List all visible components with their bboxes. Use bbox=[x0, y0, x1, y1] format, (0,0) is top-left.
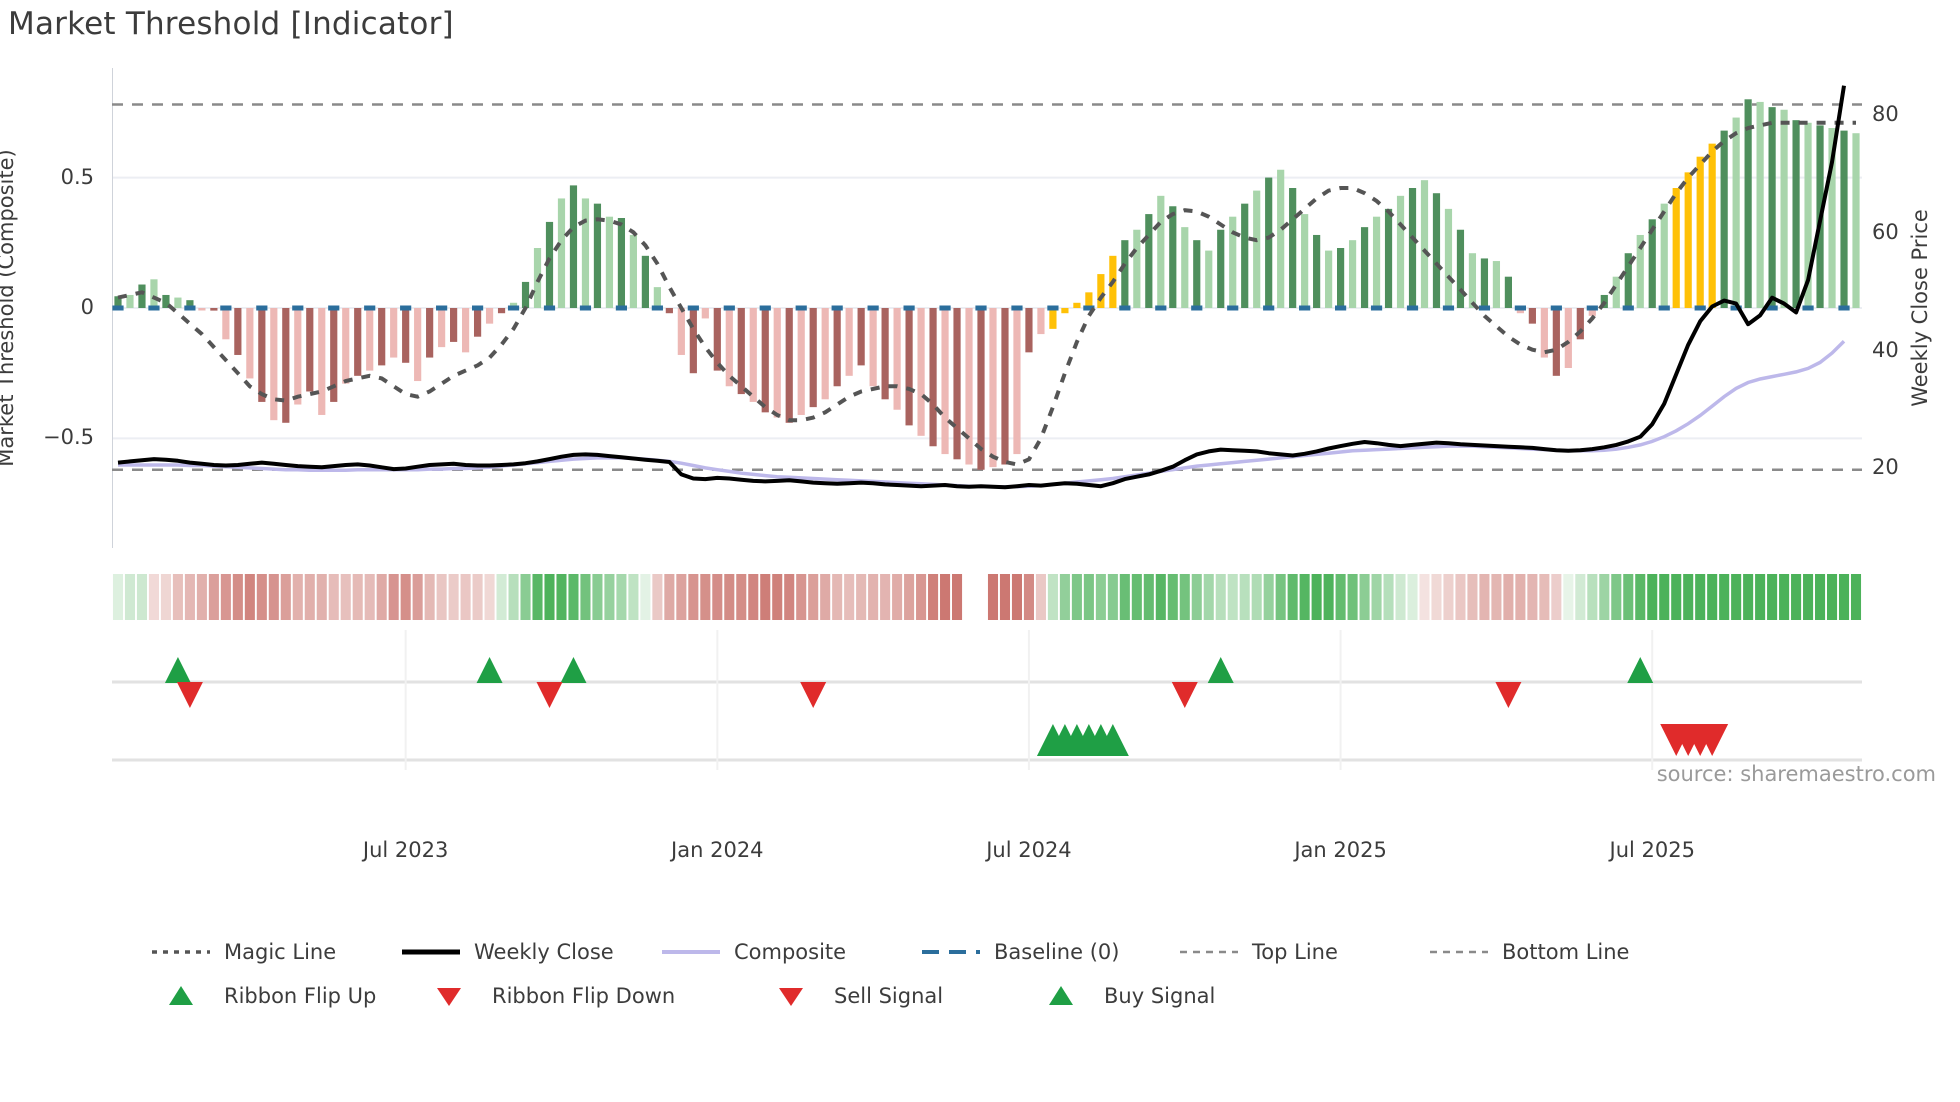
indicator-bar bbox=[522, 282, 529, 308]
ribbon-cell bbox=[868, 574, 878, 620]
ribbon-cell bbox=[640, 574, 650, 620]
ribbon-cell bbox=[1791, 574, 1801, 620]
ribbon-cell bbox=[1695, 574, 1705, 620]
dashed-line-icon bbox=[1178, 939, 1240, 965]
indicator-bar bbox=[1433, 193, 1440, 308]
indicator-bar bbox=[1661, 204, 1668, 308]
indicator-bar bbox=[1049, 308, 1056, 329]
ribbon-cell bbox=[700, 574, 710, 620]
solid-line-icon bbox=[400, 939, 462, 965]
indicator-bar bbox=[953, 308, 960, 459]
legend-item[interactable]: Composite bbox=[660, 939, 920, 965]
legend-item[interactable]: Ribbon Flip Down bbox=[418, 983, 760, 1009]
indicator-bar bbox=[450, 308, 457, 342]
ribbon-cell bbox=[329, 574, 339, 620]
indicator-bar bbox=[810, 308, 817, 407]
indicator-bar bbox=[965, 308, 972, 465]
indicator-bar bbox=[1445, 209, 1452, 308]
ribbon-cell bbox=[712, 574, 722, 620]
indicator-bar bbox=[1733, 118, 1740, 308]
indicator-bar bbox=[1421, 180, 1428, 308]
ribbon-heatmap-svg bbox=[112, 572, 1862, 624]
ribbon-flip-down-marker bbox=[537, 682, 563, 708]
legend-row-markers: Ribbon Flip UpRibbon Flip DownSell Signa… bbox=[150, 974, 1850, 1018]
ribbon-cell bbox=[425, 574, 435, 620]
source-attribution: source: sharemaestro.com bbox=[1657, 762, 1936, 786]
ribbon-cell bbox=[1551, 574, 1561, 620]
ribbon-cell bbox=[257, 574, 267, 620]
legend-key bbox=[418, 983, 480, 1009]
ribbon-cell bbox=[1384, 574, 1394, 620]
up-triangle-icon bbox=[1049, 986, 1073, 1005]
ribbon-cell bbox=[497, 574, 507, 620]
ribbon-flip-down-marker bbox=[1495, 682, 1521, 708]
ribbon-cell bbox=[1479, 574, 1489, 620]
indicator-bar bbox=[929, 308, 936, 446]
indicator-bar bbox=[738, 308, 745, 394]
legend-label: Sell Signal bbox=[834, 984, 943, 1008]
indicator-bar bbox=[222, 308, 229, 339]
indicator-bar bbox=[1397, 196, 1404, 308]
indicator-bar bbox=[822, 308, 829, 399]
legend-label: Ribbon Flip Down bbox=[492, 984, 675, 1008]
up-triangle-icon bbox=[150, 983, 212, 1009]
ribbon-cell bbox=[988, 574, 998, 620]
ribbon-cell bbox=[269, 574, 279, 620]
ribbon-cell bbox=[544, 574, 554, 620]
ribbon-cell bbox=[664, 574, 674, 620]
ribbon-cell bbox=[688, 574, 698, 620]
ribbon-cell bbox=[1503, 574, 1513, 620]
indicator-bar bbox=[1181, 227, 1188, 308]
indicator-bar bbox=[1685, 172, 1692, 308]
ribbon-cell bbox=[485, 574, 495, 620]
indicator-bar bbox=[570, 185, 577, 308]
ribbon-cell bbox=[1815, 574, 1825, 620]
ribbon-cell bbox=[161, 574, 171, 620]
ribbon-cell bbox=[556, 574, 566, 620]
indicator-bar bbox=[1193, 240, 1200, 308]
indicator-bar bbox=[234, 308, 241, 355]
indicator-bar bbox=[1769, 107, 1776, 308]
ribbon-cell bbox=[808, 574, 818, 620]
ribbon-cell bbox=[1827, 574, 1837, 620]
ribbon-cell bbox=[1623, 574, 1633, 620]
ribbon-cell bbox=[305, 574, 315, 620]
ribbon-cell bbox=[952, 574, 962, 620]
ribbon-cell bbox=[1204, 574, 1214, 620]
ribbon-cell bbox=[1000, 574, 1010, 620]
y-axis-right-tick: 80 bbox=[1872, 102, 1960, 126]
indicator-bar bbox=[1037, 308, 1044, 334]
ribbon-cell bbox=[1515, 574, 1525, 620]
legend-item[interactable]: Weekly Close bbox=[400, 939, 660, 965]
indicator-bar bbox=[905, 308, 912, 425]
ribbon-cell bbox=[437, 574, 447, 620]
ribbon-cell bbox=[1719, 574, 1729, 620]
ribbon-cell bbox=[844, 574, 854, 620]
ribbon-cell bbox=[1036, 574, 1046, 620]
ribbon-cell bbox=[197, 574, 207, 620]
indicator-bar bbox=[390, 308, 397, 358]
indicator-bar bbox=[618, 218, 625, 308]
ribbon-cell bbox=[473, 574, 483, 620]
ribbon-cell bbox=[509, 574, 519, 620]
ribbon-cell bbox=[389, 574, 399, 620]
indicator-bar bbox=[1061, 308, 1068, 313]
ribbon-cell bbox=[1288, 574, 1298, 620]
ribbon-cell bbox=[748, 574, 758, 620]
indicator-bar bbox=[474, 308, 481, 337]
ribbon-cell bbox=[1611, 574, 1621, 620]
ribbon-cell bbox=[832, 574, 842, 620]
ribbon-cell bbox=[185, 574, 195, 620]
legend-label: Magic Line bbox=[224, 940, 336, 964]
ribbon-cell bbox=[1084, 574, 1094, 620]
ribbon-cell bbox=[1779, 574, 1789, 620]
ribbon-cell bbox=[796, 574, 806, 620]
x-axis-tick: Jul 2024 bbox=[929, 838, 1129, 862]
indicator-bar bbox=[1349, 240, 1356, 308]
ribbon-cell bbox=[1324, 574, 1334, 620]
ribbon-cell bbox=[1372, 574, 1382, 620]
ribbon-cell bbox=[904, 574, 914, 620]
up-triangle-icon bbox=[169, 986, 193, 1005]
indicator-bar bbox=[1780, 110, 1787, 308]
indicator-bar bbox=[486, 308, 493, 324]
ribbon-cell bbox=[1096, 574, 1106, 620]
indicator-bar bbox=[258, 308, 265, 402]
ribbon-cell bbox=[1755, 574, 1765, 620]
indicator-bar bbox=[798, 308, 805, 415]
indicator-bar bbox=[1721, 131, 1728, 308]
ribbon-cell bbox=[1455, 574, 1465, 620]
indicator-bar bbox=[1073, 303, 1080, 308]
indicator-bar bbox=[426, 308, 433, 358]
ribbon-cell bbox=[1360, 574, 1370, 620]
ribbon-cell bbox=[365, 574, 375, 620]
ribbon-cell bbox=[1300, 574, 1310, 620]
ribbon-cell bbox=[1012, 574, 1022, 620]
indicator-bar bbox=[726, 308, 733, 386]
indicator-bar bbox=[1361, 227, 1368, 308]
ribbon-cell bbox=[281, 574, 291, 620]
indicator-bar bbox=[1457, 230, 1464, 308]
ribbon-cell bbox=[676, 574, 686, 620]
ribbon-cell bbox=[1108, 574, 1118, 620]
indicator-bar bbox=[1097, 274, 1104, 308]
ribbon-cell bbox=[1336, 574, 1346, 620]
ribbon-cell bbox=[1527, 574, 1537, 620]
indicator-bar bbox=[894, 308, 901, 410]
indicator-bar bbox=[1133, 230, 1140, 308]
ribbon-cell bbox=[1348, 574, 1358, 620]
indicator-bar bbox=[1337, 248, 1344, 308]
legend-key bbox=[760, 983, 822, 1009]
ribbon-cell bbox=[1168, 574, 1178, 620]
ribbon-cell bbox=[1599, 574, 1609, 620]
indicator-bar bbox=[1745, 99, 1752, 308]
indicator-bar bbox=[774, 308, 781, 418]
indicator-bar bbox=[558, 198, 565, 308]
legend-item[interactable]: Bottom Line bbox=[1428, 939, 1678, 965]
indicator-bar bbox=[989, 308, 996, 467]
indicator-bar bbox=[438, 308, 445, 347]
ribbon-cell bbox=[520, 574, 530, 620]
indicator-bar bbox=[366, 308, 373, 371]
indicator-bar bbox=[1709, 144, 1716, 308]
magic-line bbox=[118, 123, 1856, 465]
ribbon-cell bbox=[221, 574, 231, 620]
ribbon-cell bbox=[784, 574, 794, 620]
indicator-bar bbox=[858, 308, 865, 365]
ribbon-cell bbox=[724, 574, 734, 620]
legend-key bbox=[1030, 983, 1092, 1009]
indicator-bar bbox=[834, 308, 841, 386]
indicator-bar bbox=[882, 308, 889, 399]
ribbon-cell bbox=[580, 574, 590, 620]
ribbon-cell bbox=[1431, 574, 1441, 620]
indicator-bar bbox=[342, 308, 349, 384]
indicator-bar bbox=[762, 308, 769, 412]
ribbon-cell bbox=[377, 574, 387, 620]
ribbon-cell bbox=[1539, 574, 1549, 620]
indicator-bar bbox=[414, 308, 421, 381]
ribbon-cell bbox=[209, 574, 219, 620]
indicator-bar bbox=[1229, 217, 1236, 308]
legend-item[interactable]: Sell Signal bbox=[760, 983, 1030, 1009]
indicator-bar bbox=[1757, 102, 1764, 308]
legend-label: Top Line bbox=[1252, 940, 1338, 964]
ribbon-cell bbox=[1156, 574, 1166, 620]
y-axis-left-tick: −0.5 bbox=[4, 425, 94, 449]
indicator-bar bbox=[306, 308, 313, 391]
ribbon-cell bbox=[233, 574, 243, 620]
ribbon-cell bbox=[1443, 574, 1453, 620]
indicator-bar bbox=[1505, 277, 1512, 308]
legend-item[interactable]: Ribbon Flip Up bbox=[150, 983, 418, 1009]
ribbon-cell bbox=[1192, 574, 1202, 620]
legend-row-lines: Magic LineWeekly CloseCompositeBaseline … bbox=[150, 930, 1850, 974]
ribbon-cell bbox=[1276, 574, 1286, 620]
ribbon-cell bbox=[1216, 574, 1226, 620]
legend-item[interactable]: Magic Line bbox=[150, 939, 400, 965]
ribbon-cell bbox=[1575, 574, 1585, 620]
ribbon-cell bbox=[592, 574, 602, 620]
legend-key bbox=[150, 983, 212, 1009]
legend-label: Weekly Close bbox=[474, 940, 614, 964]
indicator-bar bbox=[1373, 217, 1380, 308]
indicator-bar bbox=[1277, 170, 1284, 308]
ribbon-cell bbox=[125, 574, 135, 620]
indicator-bar bbox=[282, 308, 289, 423]
legend-label: Composite bbox=[734, 940, 846, 964]
ribbon-cell bbox=[1060, 574, 1070, 620]
down-triangle-icon bbox=[437, 988, 461, 1006]
ribbon-cell bbox=[760, 574, 770, 620]
indicator-bar bbox=[354, 308, 361, 376]
indicator-bar bbox=[1409, 188, 1416, 308]
indicator-bar bbox=[1301, 214, 1308, 308]
indicator-bar bbox=[582, 198, 589, 308]
ribbon-cell bbox=[1683, 574, 1693, 620]
ribbon-cell bbox=[353, 574, 363, 620]
ribbon-cell bbox=[317, 574, 327, 620]
down-triangle-icon bbox=[760, 983, 822, 1009]
indicator-bar bbox=[606, 217, 613, 308]
indicator-bar bbox=[1265, 178, 1272, 308]
indicator-bar bbox=[1241, 204, 1248, 308]
chart-page: Market Threshold [Indicator] Market Thre… bbox=[0, 0, 1960, 1102]
ribbon-cell bbox=[1024, 574, 1034, 620]
ribbon-cell bbox=[1587, 574, 1597, 620]
ribbon-cell bbox=[245, 574, 255, 620]
ribbon-cell bbox=[1731, 574, 1741, 620]
indicator-bar bbox=[1697, 157, 1704, 308]
indicator-bar bbox=[1493, 261, 1500, 308]
indicator-bar bbox=[402, 308, 409, 363]
legend-key bbox=[1178, 939, 1240, 965]
indicator-bar bbox=[1025, 308, 1032, 352]
ribbon-cell bbox=[413, 574, 423, 620]
x-axis-tick: Jan 2024 bbox=[617, 838, 817, 862]
indicator-bar bbox=[294, 308, 301, 405]
ribbon-cell bbox=[1072, 574, 1082, 620]
indicator-bar bbox=[210, 308, 217, 311]
ribbon-flip-down-marker bbox=[1172, 682, 1198, 708]
ribbon-cell bbox=[1252, 574, 1262, 620]
ribbon-cell bbox=[856, 574, 866, 620]
indicator-bar bbox=[1529, 308, 1536, 324]
legend-key bbox=[400, 939, 462, 965]
ribbon-cell bbox=[1767, 574, 1777, 620]
legend-label: Buy Signal bbox=[1104, 984, 1215, 1008]
indicator-bar bbox=[378, 308, 385, 365]
ribbon-cell bbox=[1144, 574, 1154, 620]
ribbon-flip-up-marker bbox=[560, 657, 586, 683]
ribbon-cell bbox=[1407, 574, 1417, 620]
ribbon-flip-down-marker bbox=[177, 682, 203, 708]
down-triangle-icon bbox=[779, 988, 803, 1006]
x-axis-tick: Jul 2023 bbox=[306, 838, 506, 862]
legend-label: Baseline (0) bbox=[994, 940, 1119, 964]
dashed-line-icon bbox=[920, 939, 982, 965]
ribbon-cell bbox=[616, 574, 626, 620]
legend-item[interactable]: Buy Signal bbox=[1030, 983, 1330, 1009]
indicator-bar bbox=[498, 308, 505, 313]
x-axis-tick: Jan 2025 bbox=[1241, 838, 1441, 862]
indicator-bar bbox=[941, 308, 948, 454]
ribbon-cell bbox=[401, 574, 411, 620]
legend-item[interactable]: Top Line bbox=[1178, 939, 1428, 965]
indicator-bar bbox=[1469, 253, 1476, 308]
indicator-bar bbox=[1325, 251, 1332, 308]
ribbon-cell bbox=[772, 574, 782, 620]
indicator-bar bbox=[1481, 258, 1488, 308]
indicator-bar bbox=[1613, 277, 1620, 308]
indicator-bar bbox=[630, 235, 637, 308]
down-triangle-icon bbox=[418, 983, 480, 1009]
indicator-bar bbox=[270, 308, 277, 420]
indicator-bar bbox=[1385, 209, 1392, 308]
indicator-bar bbox=[1205, 251, 1212, 308]
signal-markers-svg bbox=[112, 630, 1862, 770]
ribbon-cell bbox=[293, 574, 303, 620]
ribbon-cell bbox=[568, 574, 578, 620]
indicator-bar bbox=[1565, 308, 1572, 368]
ribbon-cell bbox=[1803, 574, 1813, 620]
indicator-bar bbox=[1169, 206, 1176, 308]
ribbon-cell bbox=[449, 574, 459, 620]
indicator-bar bbox=[1121, 240, 1128, 308]
ribbon-cell bbox=[1264, 574, 1274, 620]
legend-label: Bottom Line bbox=[1502, 940, 1629, 964]
legend-label: Ribbon Flip Up bbox=[224, 984, 376, 1008]
dotted-line-icon bbox=[150, 939, 212, 965]
main-indicator-svg bbox=[112, 68, 1862, 548]
ribbon-cell bbox=[1120, 574, 1130, 620]
dashed-line-icon bbox=[1428, 939, 1490, 965]
indicator-bar bbox=[1157, 196, 1164, 308]
indicator-bar bbox=[126, 295, 133, 308]
indicator-bar bbox=[1553, 308, 1560, 376]
ribbon-cell bbox=[892, 574, 902, 620]
ribbon-cell bbox=[1467, 574, 1477, 620]
indicator-bar bbox=[846, 308, 853, 376]
ribbon-cell bbox=[1180, 574, 1190, 620]
indicator-bar bbox=[702, 308, 709, 318]
ribbon-cell bbox=[880, 574, 890, 620]
indicator-bar bbox=[870, 308, 877, 386]
ribbon-cell bbox=[652, 574, 662, 620]
ribbon-flip-up-marker bbox=[1627, 657, 1653, 683]
ribbon-cell bbox=[1671, 574, 1681, 620]
ribbon-cell bbox=[1647, 574, 1657, 620]
x-axis-tick: Jul 2025 bbox=[1552, 838, 1752, 862]
ribbon-cell bbox=[1743, 574, 1753, 620]
ribbon-cell bbox=[1312, 574, 1322, 620]
ribbon-flip-up-marker bbox=[1208, 657, 1234, 683]
legend-key bbox=[660, 939, 722, 965]
indicator-bar bbox=[198, 308, 205, 311]
indicator-bar bbox=[318, 308, 325, 415]
ribbon-cell bbox=[1659, 574, 1669, 620]
ribbon-cell bbox=[1491, 574, 1501, 620]
chart-plot-area bbox=[112, 68, 1862, 548]
solid-line-icon bbox=[660, 939, 722, 965]
ribbon-cell bbox=[1635, 574, 1645, 620]
indicator-bar bbox=[786, 308, 793, 423]
ribbon-cell bbox=[532, 574, 542, 620]
y-axis-right-tick: 60 bbox=[1872, 220, 1960, 244]
y-axis-right-tick: 40 bbox=[1872, 338, 1960, 362]
legend-key bbox=[1428, 939, 1490, 965]
indicator-bar bbox=[666, 308, 673, 313]
ribbon-cell bbox=[149, 574, 159, 620]
ribbon-cell bbox=[820, 574, 830, 620]
indicator-bar bbox=[690, 308, 697, 373]
indicator-bar bbox=[246, 308, 253, 378]
ribbon-flip-up-marker bbox=[477, 657, 503, 683]
ribbon-cell bbox=[628, 574, 638, 620]
indicator-bar bbox=[1852, 133, 1859, 308]
legend-key bbox=[150, 939, 212, 965]
ribbon-cell bbox=[928, 574, 938, 620]
ribbon-cell bbox=[916, 574, 926, 620]
legend-item[interactable]: Baseline (0) bbox=[920, 939, 1178, 965]
ribbon-flip-down-marker bbox=[800, 682, 826, 708]
ribbon-cell bbox=[113, 574, 123, 620]
